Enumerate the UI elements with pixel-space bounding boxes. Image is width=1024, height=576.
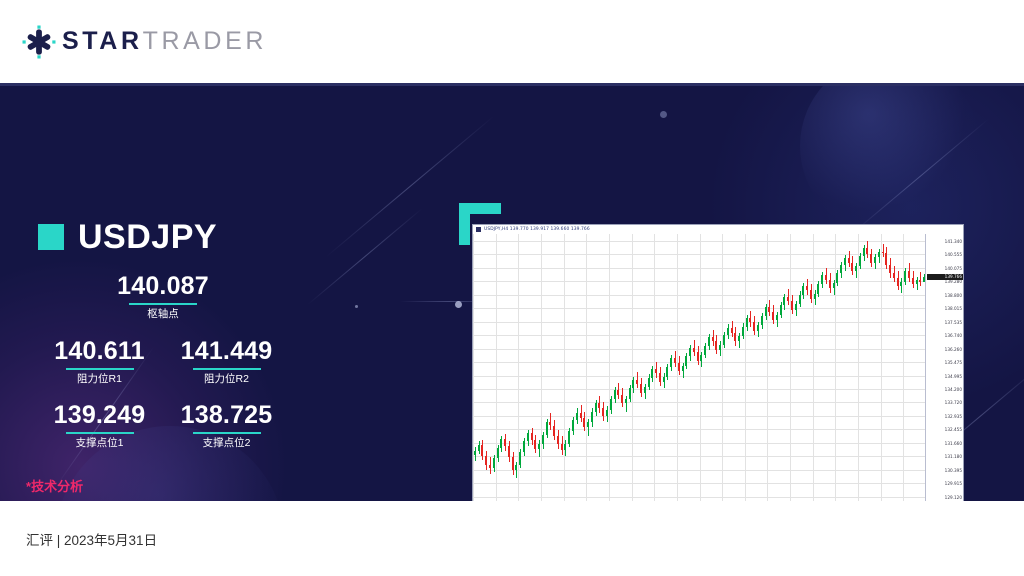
candle-body bbox=[527, 433, 529, 442]
candle-body bbox=[787, 297, 789, 301]
candle-body bbox=[833, 283, 835, 288]
price-tick-label: 130.395 bbox=[945, 468, 962, 473]
pivot-levels: 140.087 枢轴点 140.611 阻力位R1 141.449 阻力位R2 … bbox=[38, 272, 288, 450]
brand-star-text: STAR bbox=[62, 27, 143, 55]
price-tick-label: 137.535 bbox=[945, 320, 962, 325]
support2-value: 138.725 bbox=[165, 401, 288, 429]
dot-3 bbox=[660, 111, 667, 118]
candle-body bbox=[538, 444, 540, 449]
candle-body bbox=[799, 295, 801, 305]
candle-body bbox=[919, 280, 921, 282]
price-tick-label: 134.200 bbox=[945, 387, 962, 392]
candle-body bbox=[489, 465, 491, 468]
main-panel: USDJPY 140.087 枢轴点 140.611 阻力位R1 141.449… bbox=[0, 86, 1024, 501]
candle-body bbox=[746, 318, 748, 327]
candle-body bbox=[493, 458, 495, 468]
candle-body bbox=[602, 408, 604, 415]
candle-body bbox=[640, 384, 642, 393]
support1-block: 139.249 支撑点位1 bbox=[38, 401, 161, 450]
candle-body bbox=[693, 348, 695, 352]
support2-label: 支撑点位2 bbox=[165, 437, 288, 450]
candle-body bbox=[474, 451, 476, 456]
candle-body bbox=[632, 380, 634, 389]
candle-body bbox=[485, 456, 487, 465]
candle-body bbox=[655, 369, 657, 373]
candle-body bbox=[697, 352, 699, 361]
candle-body bbox=[564, 444, 566, 450]
candle-body bbox=[765, 307, 767, 316]
candle-body bbox=[504, 439, 506, 445]
candle-body bbox=[840, 265, 842, 274]
candle-body bbox=[897, 278, 899, 287]
candle-body bbox=[591, 412, 593, 423]
candle-body bbox=[606, 410, 608, 416]
candle-body bbox=[617, 390, 619, 394]
candle-body bbox=[882, 252, 884, 253]
price-tick-label: 138.800 bbox=[945, 293, 962, 298]
candle-body bbox=[731, 328, 733, 333]
teal-square-bullet bbox=[38, 224, 64, 250]
candle-body bbox=[519, 452, 521, 465]
support2-block: 138.725 支撑点位2 bbox=[165, 401, 288, 450]
candle-body bbox=[651, 369, 653, 378]
candle-body bbox=[772, 312, 774, 321]
candle-body bbox=[515, 465, 517, 470]
candle-body bbox=[900, 282, 902, 286]
price-chart[interactable]: USDJPY,H4 139.770 139.917 139.660 139.76… bbox=[472, 224, 964, 501]
price-axis[interactable]: 141.340140.555140.075139.280138.800138.0… bbox=[925, 234, 963, 501]
candle-body bbox=[546, 422, 548, 435]
candle-body bbox=[806, 286, 808, 290]
candle-body bbox=[715, 341, 717, 350]
support1-value: 139.249 bbox=[38, 401, 161, 429]
support1-label: 支撑点位1 bbox=[38, 437, 161, 450]
chart-title: USDJPY,H4 139.770 139.917 139.660 139.76… bbox=[484, 227, 590, 232]
candle-body bbox=[678, 363, 680, 372]
price-tick-label: 141.340 bbox=[945, 239, 962, 244]
candle-body bbox=[757, 325, 759, 330]
candle-body bbox=[814, 294, 816, 299]
candle-body bbox=[844, 258, 846, 264]
brand-trader-text: TRADER bbox=[143, 27, 267, 55]
candle-body bbox=[791, 301, 793, 310]
candle-body bbox=[836, 273, 838, 283]
candle-body bbox=[549, 422, 551, 425]
support1-underline bbox=[66, 432, 134, 434]
candle-body bbox=[893, 273, 895, 277]
pivot-point-block: 140.087 枢轴点 bbox=[38, 272, 288, 321]
candle-body bbox=[614, 390, 616, 399]
candle-body bbox=[742, 327, 744, 337]
levels-grid: 140.611 阻力位R1 141.449 阻力位R2 139.249 支撑点位… bbox=[38, 337, 288, 450]
footer-caption: 汇评 | 2023年5月31日 bbox=[26, 529, 157, 549]
candle-body bbox=[704, 346, 706, 356]
candle-body bbox=[908, 271, 910, 277]
resistance1-label: 阻力位R1 bbox=[38, 373, 161, 386]
candle-body bbox=[663, 377, 665, 382]
pivot-value: 140.087 bbox=[38, 272, 288, 300]
candle-body bbox=[916, 280, 918, 284]
price-tick-label: 136.740 bbox=[945, 333, 962, 338]
candle-body bbox=[727, 328, 729, 335]
candle-body bbox=[648, 378, 650, 388]
candle-body bbox=[568, 431, 570, 444]
resistance1-value: 140.611 bbox=[38, 337, 161, 365]
chart-plot-area[interactable] bbox=[473, 234, 925, 501]
candle-body bbox=[625, 399, 627, 403]
price-tick-label: 129.120 bbox=[945, 495, 962, 500]
candle-body bbox=[583, 418, 585, 427]
price-tick-label: 135.475 bbox=[945, 360, 962, 365]
candle-body bbox=[523, 441, 525, 452]
candle-body bbox=[689, 348, 691, 357]
candle-body bbox=[512, 457, 514, 470]
candle-body bbox=[636, 380, 638, 384]
candle-body bbox=[810, 290, 812, 299]
candle-body bbox=[561, 444, 563, 450]
resistance2-label: 阻力位R2 bbox=[165, 373, 288, 386]
price-tick-label: 136.260 bbox=[945, 347, 962, 352]
candle-body bbox=[780, 305, 782, 315]
candle-body bbox=[753, 322, 755, 331]
candle-body bbox=[874, 257, 876, 262]
page-footer: 汇评 | 2023年5月31日 bbox=[0, 501, 1024, 576]
resistance1-underline bbox=[66, 368, 134, 370]
price-tick-label: 131.180 bbox=[945, 454, 962, 459]
candle-body bbox=[508, 446, 510, 458]
dot-1 bbox=[355, 305, 358, 308]
brand-logo: STARTRADER bbox=[22, 25, 267, 59]
candle-body bbox=[644, 387, 646, 392]
candle-wick bbox=[550, 413, 551, 430]
candle-wick bbox=[883, 244, 884, 258]
candle-body bbox=[481, 445, 483, 457]
price-tick-label: 132.935 bbox=[945, 414, 962, 419]
candle-body bbox=[825, 275, 827, 279]
star-asterisk-icon bbox=[22, 25, 56, 59]
candle-body bbox=[497, 448, 499, 459]
candle-body bbox=[629, 388, 631, 399]
page-title: USDJPY bbox=[78, 220, 217, 254]
candle-body bbox=[670, 358, 672, 367]
candle-body bbox=[795, 304, 797, 309]
price-tick-label: 131.660 bbox=[945, 441, 962, 446]
candle-body bbox=[553, 426, 555, 437]
price-tick-label: 132.455 bbox=[945, 427, 962, 432]
resistance1-block: 140.611 阻力位R1 bbox=[38, 337, 161, 386]
current-price-label: 139.766 bbox=[927, 274, 963, 280]
candle-body bbox=[700, 355, 702, 360]
candle-body bbox=[855, 266, 857, 271]
technical-analysis-title: *技术分析 bbox=[26, 476, 426, 495]
price-tick-label: 138.015 bbox=[945, 306, 962, 311]
candle-body bbox=[598, 403, 600, 408]
candle-body bbox=[768, 307, 770, 311]
candle-body bbox=[859, 256, 861, 266]
candlestick-series bbox=[473, 234, 925, 501]
pivot-underline bbox=[129, 303, 197, 305]
candle-body bbox=[866, 248, 868, 254]
candle-body bbox=[719, 345, 721, 350]
candle-body bbox=[885, 253, 887, 265]
candle-body bbox=[534, 440, 536, 449]
candle-body bbox=[734, 333, 736, 342]
technical-analysis-title-text: 技术分析 bbox=[31, 479, 83, 494]
chart-symbol-icon bbox=[476, 227, 481, 232]
candle-body bbox=[621, 395, 623, 404]
candle-body bbox=[776, 315, 778, 320]
price-tick-label: 129.915 bbox=[945, 481, 962, 486]
page-header: STARTRADER bbox=[0, 0, 1024, 83]
pivot-label: 枢轴点 bbox=[38, 308, 288, 321]
candle-body bbox=[851, 263, 853, 272]
price-tick-label: 140.555 bbox=[945, 252, 962, 257]
candle-body bbox=[572, 420, 574, 431]
bracket-arm-vertical bbox=[459, 203, 470, 245]
candle-body bbox=[817, 284, 819, 294]
candle-body bbox=[557, 436, 559, 443]
candle-body bbox=[723, 335, 725, 345]
candle-body bbox=[542, 435, 544, 444]
candle-body bbox=[478, 445, 480, 451]
candle-body bbox=[904, 271, 906, 282]
candle-body bbox=[761, 316, 763, 326]
candle-body bbox=[682, 366, 684, 371]
candle-body bbox=[666, 367, 668, 377]
candle-body bbox=[749, 318, 751, 322]
candle-body bbox=[500, 439, 502, 448]
candle-body bbox=[587, 422, 589, 426]
dot-2 bbox=[455, 301, 462, 308]
candle-body bbox=[712, 337, 714, 341]
candle-body bbox=[738, 336, 740, 341]
candle-body bbox=[610, 399, 612, 410]
candle-body bbox=[531, 433, 533, 440]
candle-body bbox=[912, 278, 914, 284]
candle-body bbox=[848, 258, 850, 262]
support2-underline bbox=[193, 432, 261, 434]
price-tick-label: 133.720 bbox=[945, 400, 962, 405]
candle-body bbox=[870, 254, 872, 263]
candle-body bbox=[802, 286, 804, 295]
candle-body bbox=[576, 413, 578, 420]
candle-body bbox=[674, 358, 676, 362]
candle-body bbox=[878, 252, 880, 257]
price-tick-label: 140.075 bbox=[945, 266, 962, 271]
chart-header-bar: USDJPY,H4 139.770 139.917 139.660 139.76… bbox=[473, 225, 963, 234]
resistance2-underline bbox=[193, 368, 261, 370]
candle-body bbox=[821, 275, 823, 284]
candle-body bbox=[595, 403, 597, 412]
technical-analysis-block: *技术分析 多头持仓在140.087以上，目标位为 140.611及 141.4… bbox=[26, 476, 426, 501]
candle-body bbox=[580, 413, 582, 418]
candle-body bbox=[659, 373, 661, 382]
candle-body bbox=[783, 297, 785, 306]
resistance2-block: 141.449 阻力位R2 bbox=[165, 337, 288, 386]
resistance2-value: 141.449 bbox=[165, 337, 288, 365]
candle-body bbox=[708, 337, 710, 346]
candle-body bbox=[889, 265, 891, 274]
candle-body bbox=[829, 280, 831, 289]
candle-body bbox=[685, 356, 687, 366]
candle-body bbox=[863, 248, 865, 257]
price-tick-label: 134.995 bbox=[945, 374, 962, 379]
pair-title-row: USDJPY bbox=[38, 220, 217, 254]
brand-wordmark: STARTRADER bbox=[62, 29, 267, 54]
